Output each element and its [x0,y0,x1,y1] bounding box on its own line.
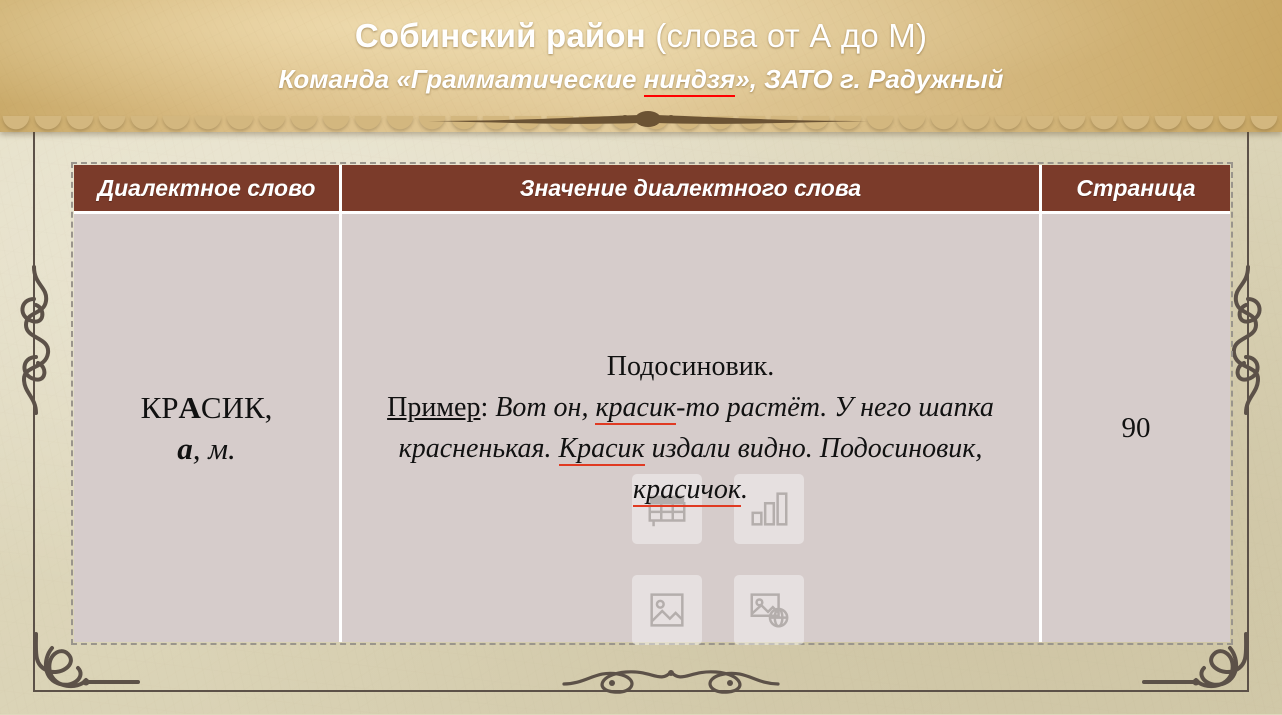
ornament-corner-bottom-right-icon [1142,630,1262,710]
subtitle-suffix: », ЗАТО г. Радужный [735,64,1003,94]
example-spellchecked-word-2: Красик [559,433,645,466]
headword-grammar-ending: а [177,431,193,466]
ornament-bottom-center-icon [556,662,786,702]
page-title[interactable]: Собинский район (слова от А до М) [0,14,1282,58]
example-part-1: Вот он, [495,392,595,423]
headword-stress-letter: А [179,390,201,425]
page-number: 90 [1043,412,1229,445]
subtitle-prefix: Команда «Грамматические [278,64,643,94]
page-title-main: Собинский район [355,17,646,54]
ornament-left-icon [0,265,70,415]
ornament-corner-bottom-left-icon [20,630,140,710]
meaning-text: Подосиновик. Пример: Вот он, красик-то р… [343,346,1038,510]
headword-grammar-gender: , м. [193,431,236,466]
table-header-row: Диалектное слово Значение диалектного сл… [74,165,1230,211]
definition-text: Подосиновик. [361,346,1020,387]
example-spellchecked-word-1: красик [595,392,676,425]
table-row: КРАСИК, а, м. Подосиновик. Пример: Вот о… [74,211,1230,642]
page-subtitle[interactable]: Команда «Грамматические ниндзя», ЗАТО г.… [0,62,1282,96]
banner-divider-ornament-icon [428,108,868,130]
slide-canvas: Собинский район (слова от А до М) Команд… [0,0,1282,714]
cell-headword[interactable]: КРАСИК, а, м. [74,211,342,642]
title-block: Собинский район (слова от А до М) Команд… [0,14,1282,96]
example-separator: : [480,392,495,423]
headword-grammar: а, м. [177,431,236,466]
cell-meaning[interactable]: Подосиновик. Пример: Вот он, красик-то р… [342,211,1042,642]
headword-after: СИК, [201,390,273,425]
dictionary-table-container[interactable]: Диалектное слово Значение диалектного сл… [74,165,1230,642]
example-label: Пример [387,392,480,423]
example-part-3: издали видно. Подосиновик, [645,433,983,464]
headword-text: КРАСИК, а, м. [75,387,338,469]
page-title-rest: (слова от А до М) [646,17,927,54]
cell-page[interactable]: 90 [1042,211,1230,642]
example-spellchecked-word-3: красичок [633,474,741,507]
column-header-page[interactable]: Страница [1042,165,1230,211]
column-header-word[interactable]: Диалектное слово [74,165,342,211]
example-part-4: . [741,474,748,505]
subtitle-misspelled-word: ниндзя [644,64,736,97]
dictionary-table: Диалектное слово Значение диалектного сл… [74,165,1230,642]
headword-before: КР [141,390,179,425]
column-header-meaning[interactable]: Значение диалектного слова [342,165,1042,211]
example-text: Пример: Вот он, красик-то растёт. У него… [361,387,1020,510]
